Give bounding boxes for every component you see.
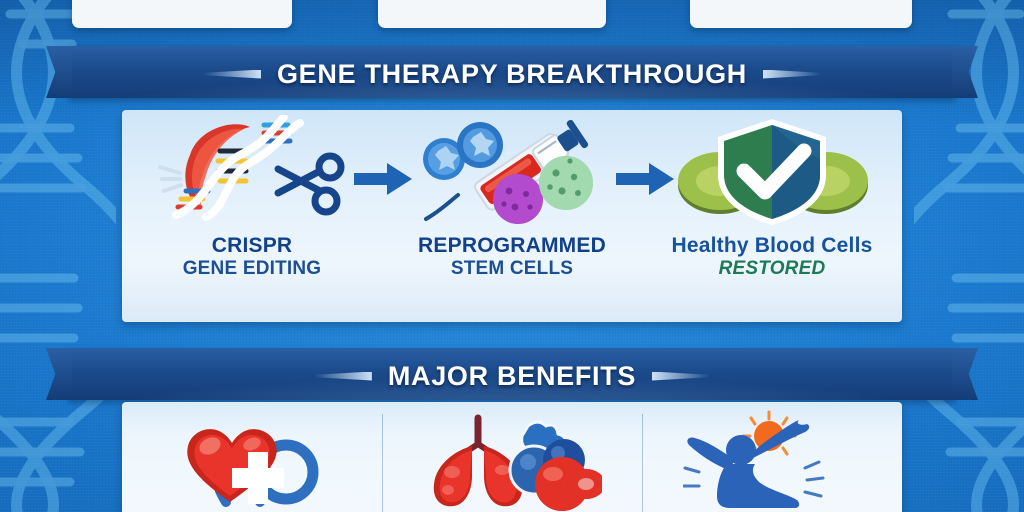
benefit-heart-health[interactable]	[122, 402, 382, 512]
benefit-organ-function[interactable]	[382, 402, 642, 512]
step-title-line2: STEM CELLS	[418, 258, 606, 279]
step-title-line2: RESTORED	[671, 258, 872, 279]
vitality-figure-sun-icon	[683, 410, 861, 512]
process-step-stem-cells-label: REPROGRAMMED STEM CELLS	[418, 234, 606, 279]
process-step-crispr-label: CRISPR GENE EDITING	[183, 234, 322, 279]
ribbon-tick-left-icon	[203, 70, 261, 79]
syringe-stem-cells-icon	[382, 110, 642, 232]
lungs-blood-cells-icon	[422, 410, 602, 512]
top-card-strip	[0, 0, 1024, 34]
heart-medical-cross-icon	[168, 410, 336, 512]
arrow-step2-to-step3	[616, 162, 674, 196]
benefit-quality-of-life[interactable]	[642, 402, 902, 512]
top-card-left[interactable]	[72, 0, 292, 28]
primary-banner-title-row: GENE THERAPY BREAKTHROUGH	[68, 46, 956, 102]
dna-scissors-icon	[122, 110, 382, 232]
ribbon-tick-right-icon	[652, 372, 710, 381]
step-title-line1: REPROGRAMMED	[418, 234, 606, 258]
process-steps-row: CRISPR GENE EDITING	[122, 110, 902, 322]
process-step-crispr[interactable]: CRISPR GENE EDITING	[122, 110, 382, 322]
primary-banner-section: GENE THERAPY BREAKTHROUGH	[0, 46, 1024, 102]
process-step-healthy-cells-label: Healthy Blood Cells RESTORED	[671, 234, 872, 279]
ribbon-tick-left-icon	[314, 372, 372, 381]
process-step-stem-cells[interactable]: REPROGRAMMED STEM CELLS	[382, 110, 642, 322]
step-title-line1: Healthy Blood Cells	[671, 234, 872, 258]
step-title-line2: GENE EDITING	[183, 258, 322, 279]
secondary-banner-title-row: MAJOR BENEFITS	[68, 348, 956, 404]
step-title-line1: CRISPR	[183, 234, 322, 258]
process-step-healthy-cells[interactable]: Healthy Blood Cells RESTORED	[642, 110, 902, 322]
arrow-step1-to-step2	[354, 162, 412, 196]
process-steps-panel: CRISPR GENE EDITING	[122, 110, 902, 322]
ribbon-tick-right-icon	[763, 70, 821, 79]
shield-check-blood-cells-icon	[642, 110, 902, 232]
top-card-center[interactable]	[378, 0, 606, 28]
benefits-panel	[122, 402, 902, 512]
secondary-banner-section: MAJOR BENEFITS	[0, 348, 1024, 404]
benefits-row	[122, 402, 902, 512]
page-title: GENE THERAPY BREAKTHROUGH	[277, 59, 747, 90]
top-card-right[interactable]	[690, 0, 912, 28]
section-title: MAJOR BENEFITS	[388, 361, 636, 392]
